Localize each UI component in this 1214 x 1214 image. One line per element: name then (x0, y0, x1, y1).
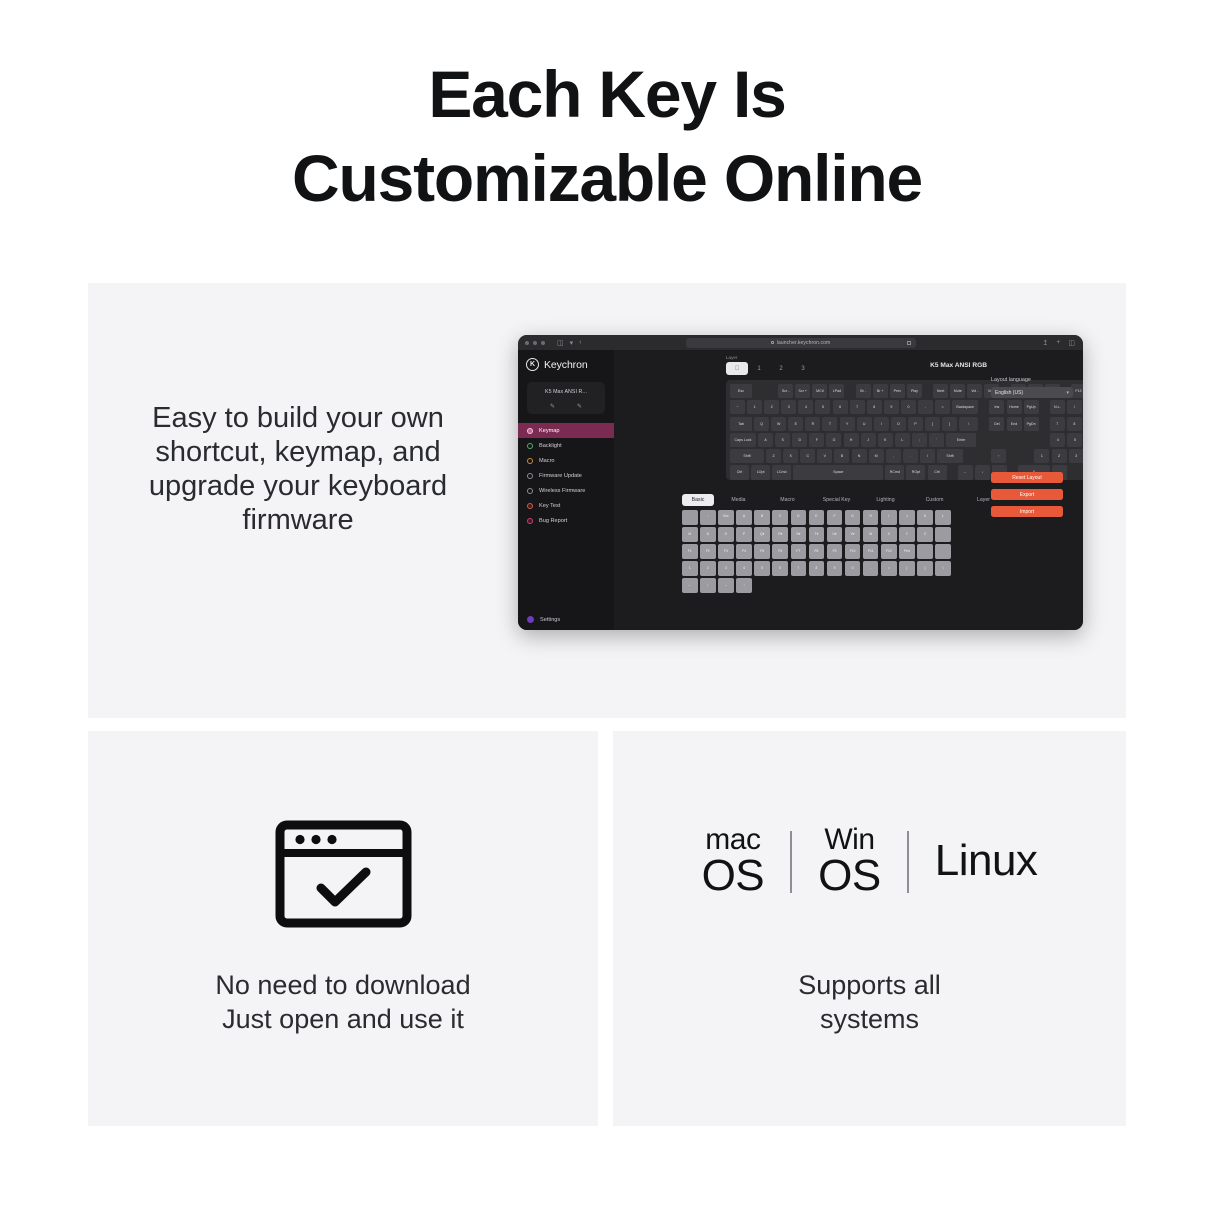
assignable-key[interactable]: Q▾ (754, 527, 770, 542)
device-actions[interactable]: ✎ ✎ (531, 403, 601, 408)
assignable-key[interactable] (935, 527, 951, 542)
app-body: K Keychron K5 Max ANSI R... ✎ ✎ Ke (518, 350, 1083, 630)
assignable-key[interactable]: 1 (682, 561, 698, 576)
assignable-key[interactable]: L (935, 510, 951, 525)
keyboard-key[interactable]: 8 (867, 400, 882, 414)
assignable-key[interactable]: = (881, 561, 897, 576)
assignable-key[interactable]: D (791, 510, 807, 525)
keyboard-key[interactable]: Space (793, 465, 883, 479)
keyboard-gap (847, 384, 854, 398)
keyboard-key[interactable]: Play (907, 384, 922, 398)
assignable-key[interactable]: → (718, 578, 734, 593)
assignable-key[interactable]: C (772, 510, 788, 525)
tab-macro[interactable]: Macro (763, 494, 812, 506)
chevron-left-icon[interactable]: ‹ (579, 339, 581, 346)
app-sidebar: K Keychron K5 Max ANSI R... ✎ ✎ Ke (518, 350, 614, 630)
caption-line-2: systems (613, 1002, 1126, 1036)
keyboard-gap (1041, 400, 1048, 414)
keyboard-key[interactable]: ~ (730, 400, 745, 414)
brand: K Keychron (518, 350, 614, 380)
tab-basic[interactable]: Basic (682, 494, 714, 506)
keyboard-key[interactable]: R (805, 417, 820, 431)
keyboard-key[interactable]: Mute (950, 384, 965, 398)
assignable-key[interactable]: S▾ (791, 527, 807, 542)
browser-titlebar: ◫ ▾ ‹ launcher.keychron.com ↥ + ◫ (518, 335, 1083, 350)
keyboard-key[interactable]: Prev (890, 384, 905, 398)
upload-icon[interactable]: ↥ (1042, 339, 1048, 347)
linux-logo: Linux (933, 840, 1040, 882)
assignable-key[interactable]: I (881, 510, 897, 525)
keyboard-gap (1008, 449, 1032, 463)
keyboard-key[interactable]: Ctrl (730, 465, 749, 479)
assignable-key[interactable]: ← (682, 578, 698, 593)
assignable-key[interactable]: F (827, 510, 843, 525)
sidebar-item-label: Keymap (539, 428, 560, 434)
assignable-key[interactable]: T▾ (809, 527, 825, 542)
keyboard-key[interactable]: . (903, 449, 918, 463)
sidebar-item-settings[interactable]: Settings (527, 616, 560, 623)
feature-card-os-support: mac OS Win OS Linux Supports all systems (613, 731, 1126, 1126)
keyboard-key[interactable]: 1 (1034, 449, 1049, 463)
keyboard-key[interactable]: Backspace (952, 400, 978, 414)
keyboard-key[interactable]: V (817, 449, 832, 463)
close-icon[interactable] (525, 341, 529, 345)
pencil-icon[interactable]: ✎ (577, 403, 582, 408)
sidebar-nav[interactable]: Keymap Backlight Macro Firmware Upd (518, 423, 614, 528)
keyboard-key[interactable]: P (908, 417, 923, 431)
assignable-key[interactable]: F10 (845, 544, 861, 559)
assignable-key[interactable]: F9 (827, 544, 843, 559)
assignable-key[interactable] (682, 510, 698, 525)
keyboard-key[interactable]: / (1067, 400, 1082, 414)
assignable-key[interactable]: 4 (736, 561, 752, 576)
firmware-update-icon (527, 473, 533, 479)
keyboard-key[interactable]: N (852, 449, 867, 463)
assignable-key[interactable]: K (917, 510, 933, 525)
assignable-key[interactable]: 9 (827, 561, 843, 576)
keyboard-key[interactable]: Next (933, 384, 948, 398)
sidebar-item-label: Key Test (539, 503, 560, 509)
keyboard-key[interactable]: ; (912, 433, 927, 447)
product-feature-page: Each Key Is Customizable Online Easy to … (0, 0, 1214, 1214)
sidebar-icon[interactable]: ◫ (557, 339, 564, 347)
keyboard-key[interactable]: 0 (901, 400, 916, 414)
macos-logo-bottom: OS (702, 855, 765, 897)
keyboard-key[interactable]: 8 (1067, 417, 1082, 431)
keyboard-key[interactable]: / (920, 449, 935, 463)
keyboard-key[interactable]: Caps Lock (730, 433, 756, 447)
sidebar-item-label: Macro (539, 458, 555, 464)
sidebar-item-label: Firmware Update (539, 473, 582, 479)
keyboard-key[interactable]: H (844, 433, 859, 447)
keyboard-gap (1041, 417, 1048, 431)
keyboard-key[interactable]: Z (766, 449, 781, 463)
keyboard-gap (980, 400, 987, 414)
share-icon[interactable] (907, 341, 911, 345)
keyboard-key[interactable]: 3 (1069, 449, 1083, 463)
assignable-key[interactable]: J (899, 510, 915, 525)
keyboard-key[interactable]: 5 (815, 400, 830, 414)
keyboard-key[interactable]: E (788, 417, 803, 431)
maximize-icon[interactable] (541, 341, 545, 345)
keyboard-key[interactable]: 7 (1050, 417, 1065, 431)
keyboard-key[interactable]: 6 (833, 400, 848, 414)
assignable-key[interactable]: - (863, 561, 879, 576)
keyboard-key[interactable]: RCmd (885, 465, 904, 479)
assignable-key[interactable]: E (809, 510, 825, 525)
address-bar[interactable]: launcher.keychron.com (686, 338, 916, 348)
keyboard-key[interactable]: 3 (781, 400, 796, 414)
assignable-key[interactable]: O (718, 527, 734, 542)
layout-language-label: Layout language (991, 377, 1073, 383)
feature-card-br-caption: Supports all systems (613, 968, 1126, 1036)
minimize-icon[interactable] (533, 341, 537, 345)
feature-card-no-download: No need to download Just open and use it (88, 731, 598, 1126)
keyboard-key[interactable]: L (895, 433, 910, 447)
apple-icon:  (735, 366, 740, 372)
keyboard-key[interactable]: ↑ (991, 449, 1006, 463)
layer-option-2[interactable]: 2 (770, 362, 792, 375)
keyboard-key[interactable]: W (771, 417, 786, 431)
keyboard-gap (965, 449, 989, 463)
sidebar-item-backlight[interactable]: Backlight (518, 438, 614, 453)
keyboard-key[interactable]: Vol - (967, 384, 982, 398)
assignable-key[interactable]: 6 (772, 561, 788, 576)
keyboard-key[interactable]: ROpt (906, 465, 925, 479)
keyboard-key[interactable]: Q (754, 417, 769, 431)
keyboard-key[interactable]: ↓ (975, 465, 990, 479)
keyboard-key[interactable]: 2 (1052, 449, 1067, 463)
assignable-key[interactable]: F3 (718, 544, 734, 559)
caption-line-1: Supports all (613, 968, 1126, 1002)
keyboard-key[interactable]: LPad (829, 384, 844, 398)
assignable-key[interactable] (917, 544, 933, 559)
keyboard-row: ~1234567890-=BackspaceInsHomePgUpN.L./*- (730, 400, 1082, 414)
macos-logo: mac OS (700, 826, 767, 897)
keyboard-key[interactable]: T (822, 417, 837, 431)
headline-line-1: Each Key Is (428, 57, 785, 131)
assignable-key[interactable]: B (754, 510, 770, 525)
keyboard-key[interactable]: Scr + (795, 384, 810, 398)
feature-card-bl-caption: No need to download Just open and use it (88, 968, 598, 1036)
keyboard-key[interactable]: B (834, 449, 849, 463)
assignable-key[interactable]: 5 (754, 561, 770, 576)
wireless-firmware-icon (527, 488, 533, 494)
tab-media[interactable]: Media (714, 494, 763, 506)
keyboard-key[interactable]: O (891, 417, 906, 431)
assignable-key[interactable]: 3 (718, 561, 734, 576)
layout-language-value: English (US) (995, 390, 1023, 396)
keyboard-key[interactable]: [ (925, 417, 940, 431)
url-text: launcher.keychron.com (777, 340, 831, 346)
assignable-key[interactable]: F5 (754, 544, 770, 559)
assignable-key[interactable]: \ (935, 561, 951, 576)
keyboard-key[interactable]: 7 (850, 400, 865, 414)
assignable-key[interactable]: V▾ (845, 527, 861, 542)
keyboard-key[interactable]: S (775, 433, 790, 447)
keyboard-key[interactable]: I (874, 417, 889, 431)
backlight-icon (527, 443, 533, 449)
winos-logo-bottom: OS (818, 855, 881, 897)
keyboard-gap (980, 417, 987, 431)
caption-line-2: Just open and use it (88, 1002, 598, 1036)
assignable-key[interactable]: 2 (700, 561, 716, 576)
layout-language-panel: Layout language English (US) ▾ Reset Lay… (991, 377, 1073, 398)
assignable-key[interactable]: ↑ (700, 510, 716, 525)
keyboard-key[interactable]: - (918, 400, 933, 414)
assignable-key[interactable]: A (736, 510, 752, 525)
keyboard-key[interactable]: A (758, 433, 773, 447)
keyboard-key[interactable]: ' (929, 433, 944, 447)
keyboard-key[interactable]: \ (959, 417, 978, 431)
browser-window-check-icon (275, 820, 412, 933)
assignable-key[interactable]: Z (917, 527, 933, 542)
chevron-down-icon[interactable]: ▾ (570, 339, 574, 347)
browser-nav-icons[interactable]: ◫ ▾ ‹ (557, 339, 581, 347)
keyboard-key[interactable]: Br + (873, 384, 888, 398)
assignable-key[interactable]: W (863, 527, 879, 542)
pencil-icon[interactable]: ✎ (550, 403, 555, 408)
assignable-key[interactable]: ] (917, 561, 933, 576)
window-controls[interactable] (525, 341, 545, 345)
chevron-down-icon: ▾ (1066, 390, 1069, 396)
sidebar-item-label: Bug Report (539, 518, 567, 524)
assignable-key[interactable]: M (682, 527, 698, 542)
keyboard-key[interactable]: X (783, 449, 798, 463)
assignable-key[interactable]: F11 (863, 544, 879, 559)
layer-selector[interactable]: Layer  1 2 3 (726, 362, 814, 375)
keyboard-key[interactable]: Home (1007, 400, 1022, 414)
keyboard-key[interactable]: 4 (798, 400, 813, 414)
assignable-key[interactable]: F1 (682, 544, 698, 559)
assignable-key[interactable]: N (700, 527, 716, 542)
keyboard-row: TabQWERTYUIOP[]\DelEndPgDn789+ (730, 417, 1082, 431)
sidebar-item-firmware-update[interactable]: Firmware Update (518, 468, 614, 483)
assignable-key[interactable]: R▾ (772, 527, 788, 542)
keyboard-gap (978, 433, 1048, 447)
tab-custom[interactable]: Custom (910, 494, 959, 506)
assignable-key[interactable]: Prnt (899, 544, 915, 559)
assignable-key[interactable]: X (881, 527, 897, 542)
assignable-key[interactable]: F12 (881, 544, 897, 559)
keyboard-key[interactable]: LCmd (772, 465, 791, 479)
keyboard-key[interactable]: ] (942, 417, 957, 431)
layer-option-0[interactable]:  (726, 362, 748, 375)
keyboard-key[interactable]: MCtl (812, 384, 827, 398)
assignable-key[interactable]: H (863, 510, 879, 525)
keyboard-key[interactable]: Y (840, 417, 855, 431)
divider (790, 831, 792, 893)
keyboard-key[interactable]: 2 (764, 400, 779, 414)
browser-toolbar-right[interactable]: ↥ + ◫ (1042, 339, 1075, 347)
sidebar-item-key-test[interactable]: Key Test (518, 498, 614, 513)
keyboard-key[interactable]: = (935, 400, 950, 414)
device-card[interactable]: K5 Max ANSI R... ✎ ✎ (527, 382, 605, 414)
keyboard-key[interactable]: Enter (946, 433, 976, 447)
gear-icon (527, 616, 534, 623)
sidebar-item-label: Wireless Firmware (539, 488, 585, 494)
keyboard-key[interactable]: Scr - (778, 384, 793, 398)
keyboard-key[interactable]: Esc (730, 384, 752, 398)
keyboard-key[interactable]: 9 (884, 400, 899, 414)
keyboard-key[interactable]: 1 (747, 400, 762, 414)
keyboard-gap (754, 384, 776, 398)
keyboard-key[interactable]: 4 (1050, 433, 1065, 447)
assignable-key[interactable]: 0 (845, 561, 861, 576)
keyboard-key[interactable]: Ctrl (928, 465, 947, 479)
key-grid-row: ↑EscABCDEFGHIJKL (682, 510, 1083, 525)
assignable-key[interactable]: F2 (700, 544, 716, 559)
assignable-key-grid[interactable]: ↑EscABCDEFGHIJKLMNOPQ▾R▾S▾T▾U▾V▾WXYZF1F2… (682, 510, 1083, 595)
sidebar-item-label: Backlight (539, 443, 562, 449)
keyboard-key[interactable]: Del (989, 417, 1004, 431)
layout-language-select[interactable]: English (US) ▾ (991, 387, 1073, 398)
key-grid-row: MNOPQ▾R▾S▾T▾U▾V▾WXYZ (682, 527, 1083, 542)
layer-label: Layer (726, 355, 738, 360)
keyboard-key[interactable]: G (826, 433, 841, 447)
sidebar-item-wireless-firmware[interactable]: Wireless Firmware (518, 483, 614, 498)
keyboard-key[interactable]: M (869, 449, 884, 463)
keyboard-gap (924, 384, 931, 398)
tab-layer[interactable]: Layer (959, 494, 1008, 506)
macro-icon (527, 458, 533, 464)
keyboard-key[interactable]: PgUp (1024, 400, 1039, 414)
assignable-key[interactable]: Esc (718, 510, 734, 525)
winos-logo: Win OS (816, 826, 883, 897)
key-grid-row: F1F2F3F4F5F6F7F8F9F10F11F12Prnt (682, 544, 1083, 559)
reset-layout-button[interactable]: Reset Layout (991, 472, 1063, 483)
plus-icon[interactable]: + (1056, 339, 1060, 347)
brand-name: Keychron (544, 359, 588, 371)
key-test-icon (527, 503, 533, 509)
sidebar-item-keymap[interactable]: Keymap (518, 423, 614, 438)
lock-icon (771, 341, 774, 344)
device-name: K5 Max ANSI R... (531, 389, 601, 395)
keyboard-key[interactable]: Tab (730, 417, 752, 431)
keyboard-key[interactable]: Shift (730, 449, 764, 463)
keyboard-key[interactable]: ← (958, 465, 973, 479)
keyboard-key[interactable]: End (1007, 417, 1022, 431)
keymap-icon (527, 428, 533, 434)
keyboard-key[interactable]: F (809, 433, 824, 447)
assignable-key[interactable]: Y (899, 527, 915, 542)
tabs-icon[interactable]: ◫ (1068, 339, 1075, 347)
tab-lighting[interactable]: Lighting (861, 494, 910, 506)
keyboard-key[interactable]: , (886, 449, 901, 463)
keyboard-title: K5 Max ANSI RGB (930, 362, 987, 369)
layer-option-1[interactable]: 1 (748, 362, 770, 375)
key-grid-row: ←↓→↑ (682, 578, 1083, 593)
keychron-logo-icon: K (526, 358, 539, 371)
divider (907, 831, 909, 893)
tab-special-key[interactable]: Special Key (812, 494, 861, 506)
feature-card-customizer: Easy to build your own shortcut, keymap,… (88, 283, 1126, 718)
keyboard-key[interactable]: D (792, 433, 807, 447)
keyboard-key[interactable]: 5 (1067, 433, 1082, 447)
keyboard-key[interactable]: Ins (989, 400, 1004, 414)
feature-card-top-copy: Easy to build your own shortcut, keymap,… (128, 401, 468, 537)
key-grid-row: 1234567890-=[]\ (682, 561, 1083, 576)
keyboard-row: ShiftZXCVBNM,./Shift↑123 (730, 449, 1082, 463)
assignable-key[interactable]: F8 (809, 544, 825, 559)
keyboard-key[interactable]: N.L. (1050, 400, 1065, 414)
keyboard-key[interactable]: Br - (856, 384, 871, 398)
assignable-key[interactable]: F6 (772, 544, 788, 559)
sidebar-item-bug-report[interactable]: Bug Report (518, 513, 614, 528)
headline-line-2: Customizable Online (0, 136, 1214, 220)
keyboard-row: Caps LockASDFGHJKL;'Enter456 (730, 433, 1082, 447)
keyboard-key[interactable]: PgDn (1024, 417, 1039, 431)
keyboard-key[interactable]: Shift (937, 449, 963, 463)
assignable-key[interactable]: ↓ (700, 578, 716, 593)
assignable-key[interactable]: F7 (791, 544, 807, 559)
assignable-key[interactable] (935, 544, 951, 559)
keyboard-key[interactable]: K (878, 433, 893, 447)
assignable-key[interactable]: 8 (809, 561, 825, 576)
keyboard-key[interactable]: C (800, 449, 815, 463)
assignable-key[interactable]: [ (899, 561, 915, 576)
assignable-key[interactable]: F4 (736, 544, 752, 559)
assignable-key[interactable]: 7 (791, 561, 807, 576)
keyboard-key[interactable]: LOpt (751, 465, 770, 479)
os-logo-row: mac OS Win OS Linux (613, 826, 1126, 897)
app-main: Layer  1 2 3 K5 Max ANSI RGB EscScr -Sc… (614, 350, 1083, 630)
keyboard-key[interactable]: J (861, 433, 876, 447)
caption-line-1: No need to download (88, 968, 598, 1002)
keyboard-gap (949, 465, 956, 479)
keyboard-key[interactable]: U (857, 417, 872, 431)
assignable-key[interactable]: ↑ (736, 578, 752, 593)
assignable-key[interactable]: G (845, 510, 861, 525)
linux-logo-bottom: Linux (935, 840, 1038, 882)
layer-option-3[interactable]: 3 (792, 362, 814, 375)
settings-label: Settings (540, 617, 560, 623)
keychron-launcher-window: ◫ ▾ ‹ launcher.keychron.com ↥ + ◫ (518, 335, 1083, 630)
assignable-key[interactable]: U▾ (827, 527, 843, 542)
key-category-tabs[interactable]: BasicMediaMacroSpecial KeyLightingCustom… (682, 494, 1008, 506)
sidebar-item-macro[interactable]: Macro (518, 453, 614, 468)
bug-report-icon (527, 518, 533, 524)
assignable-key[interactable]: P (736, 527, 752, 542)
page-title: Each Key Is Customizable Online (0, 52, 1214, 220)
